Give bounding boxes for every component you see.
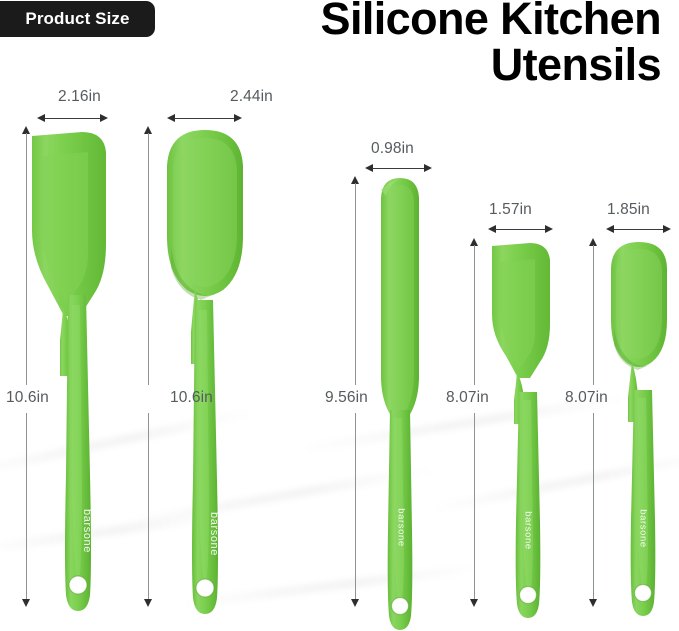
large-spoon-spatula-handle xyxy=(175,300,235,631)
title-line-2: Utensils xyxy=(241,42,661,88)
height-label-5: 8.07in xyxy=(565,389,608,407)
product-size-badge-label: Product Size xyxy=(25,9,129,29)
brand-mark-5: barsone xyxy=(638,507,649,551)
height-label-4: 8.07in xyxy=(446,389,489,407)
width-label-2: 2.44in xyxy=(230,88,273,106)
height-label-1: 10.6in xyxy=(6,389,49,407)
height-label-3: 9.56in xyxy=(325,389,368,407)
page-title: Silicone Kitchen Utensils xyxy=(241,0,661,88)
width-label-4: 1.57in xyxy=(489,201,532,219)
height-label-2: 10.6in xyxy=(170,389,213,407)
product-size-infographic: Product Size Silicone Kitchen Utensils xyxy=(0,0,679,631)
width-label-3: 0.98in xyxy=(371,140,414,158)
brand-mark-2: barsone xyxy=(208,504,220,564)
product-size-badge: Product Size xyxy=(0,1,155,37)
title-line-1: Silicone Kitchen xyxy=(321,0,661,44)
brand-mark-4: barsone xyxy=(523,509,534,553)
width-label-5: 1.85in xyxy=(607,201,650,219)
width-label-1: 2.16in xyxy=(58,88,101,106)
brand-mark-1: barsone xyxy=(81,501,93,561)
brand-mark-3: barsone xyxy=(396,506,407,550)
large-spatula-handle xyxy=(48,295,108,631)
